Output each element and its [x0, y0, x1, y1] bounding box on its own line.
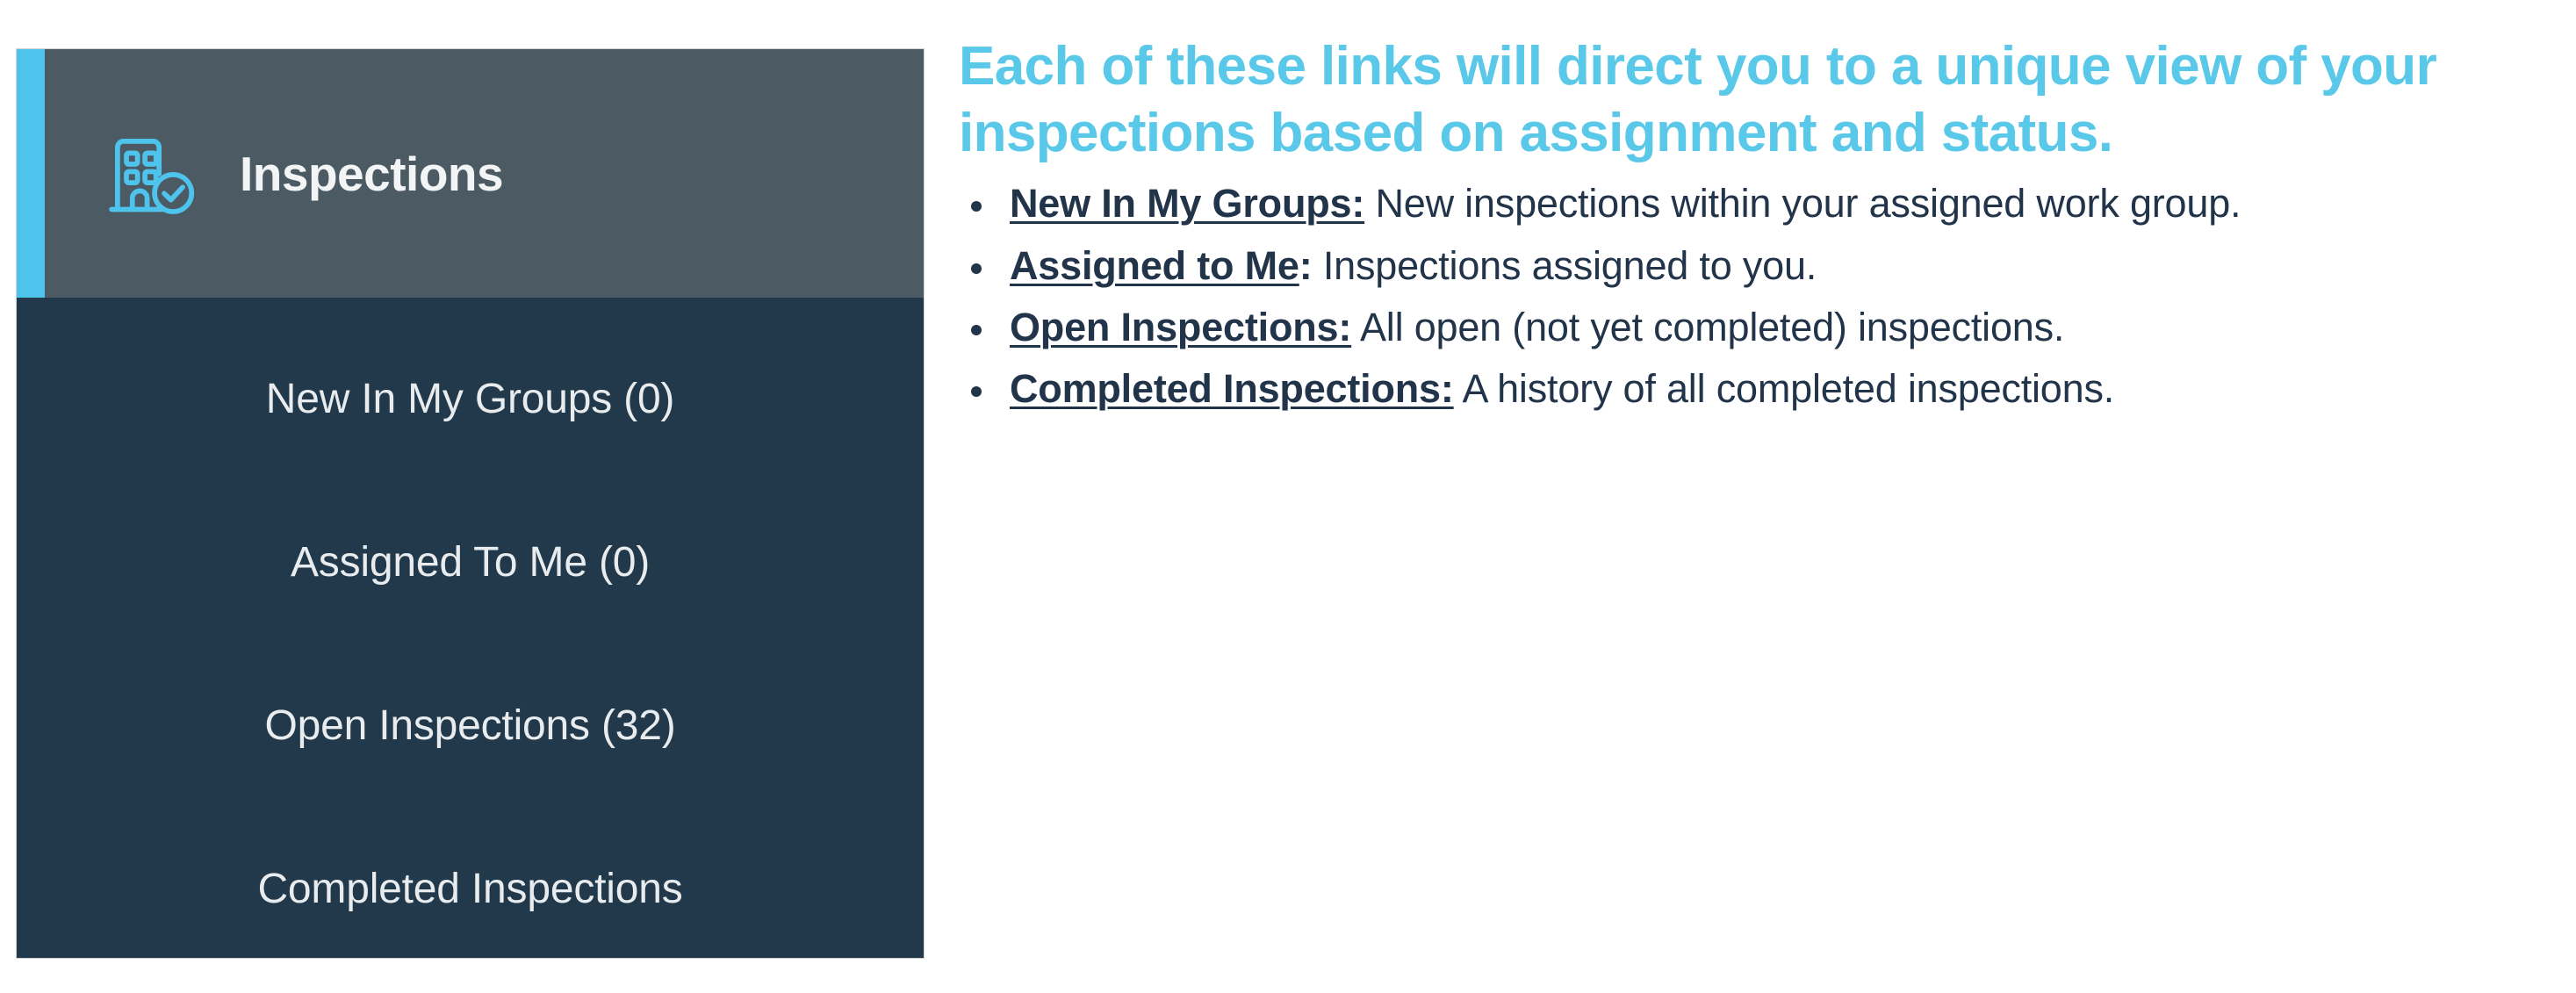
sidebar-item-label: Assigned To Me (0) [291, 538, 650, 586]
sidebar-header[interactable]: Inspections [17, 49, 924, 298]
inspections-sidebar: Inspections New In My Groups (0) Assigne… [16, 48, 925, 959]
sidebar-item-completed-inspections[interactable]: Completed Inspections [17, 807, 924, 970]
sidebar-item-open-inspections[interactable]: Open Inspections (32) [17, 644, 924, 807]
bullet-label[interactable]: Assigned to Me [1010, 243, 1299, 288]
sidebar-item-label: New In My Groups (0) [266, 375, 674, 423]
active-accent-bar [17, 49, 45, 298]
bullet-label[interactable]: New In My Groups: [1010, 181, 1364, 226]
bullet-label[interactable]: Open Inspections: [1010, 305, 1351, 349]
bullet-label[interactable]: Completed Inspections: [1010, 366, 1454, 411]
bullet-dot-icon [971, 263, 982, 274]
bullet-description: New inspections within your assigned wor… [1364, 181, 2241, 226]
bullet-description: Inspections assigned to you. [1313, 243, 1817, 288]
sidebar-item-new-in-my-groups[interactable]: New In My Groups (0) [17, 317, 924, 480]
list-item: Completed Inspections: A history of all … [959, 367, 2576, 411]
link-description-list: New In My Groups: New inspections within… [959, 182, 2576, 412]
list-item: Assigned to Me: Inspections assigned to … [959, 244, 2576, 288]
bullet-description: All open (not yet completed) inspections… [1351, 305, 2064, 349]
bullet-dot-icon [971, 201, 982, 212]
sidebar-item-label: Completed Inspections [257, 865, 682, 913]
list-item: Open Inspections: All open (not yet comp… [959, 306, 2576, 349]
bullet-colon: : [1299, 243, 1313, 288]
bullet-dot-icon [971, 325, 982, 335]
sidebar-menu: New In My Groups (0) Assigned To Me (0) … [17, 298, 924, 970]
content-heading: Each of these links will direct you to a… [959, 33, 2539, 166]
content-pane: Each of these links will direct you to a… [959, 0, 2576, 993]
sidebar-item-label: Open Inspections (32) [264, 702, 675, 750]
sidebar-item-assigned-to-me[interactable]: Assigned To Me (0) [17, 480, 924, 644]
page-title: Inspections [240, 146, 503, 202]
list-item: New In My Groups: New inspections within… [959, 182, 2576, 226]
building-check-icon [103, 126, 198, 221]
bullet-description: A history of all completed inspections. [1454, 366, 2114, 411]
bullet-dot-icon [971, 386, 982, 397]
